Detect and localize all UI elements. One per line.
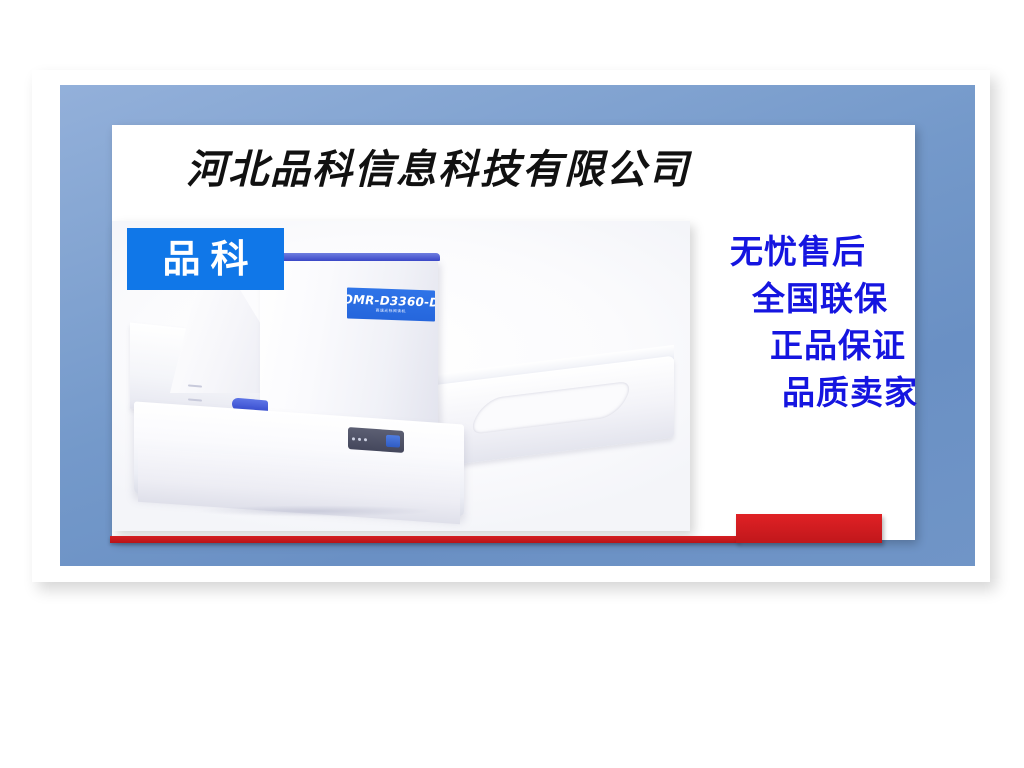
product-drop-shadow (150, 503, 480, 519)
output-tray-cutout (466, 380, 636, 435)
banner-stage: 河北品科信息科技有限公司 OMR-D3360-D 高速光标阅读机 (0, 0, 1024, 768)
slogan-item: 品质卖家 (690, 369, 918, 416)
red-accent-line (110, 536, 740, 543)
slogan-item: 正品保证 (690, 322, 918, 369)
power-button-icon (386, 435, 400, 448)
status-led-icon (364, 438, 367, 441)
slogan-item: 全国联保 (690, 275, 918, 322)
brand-badge: 品科 (127, 228, 284, 290)
status-led-icon (358, 437, 361, 440)
red-accent-block (736, 514, 882, 543)
scanner-tower (260, 259, 438, 431)
status-led-icon (352, 437, 355, 440)
status-led-group (352, 437, 367, 441)
model-plate: OMR-D3360-D 高速光标阅读机 (347, 287, 435, 321)
slogan-item: 无忧售后 (690, 228, 918, 275)
scanner-tower-top-accent (258, 253, 440, 261)
model-sublabel-text: 高速光标阅读机 (376, 308, 406, 315)
control-panel (348, 427, 404, 453)
slogan-list: 无忧售后 全国联保 正品保证 品质卖家 (690, 228, 918, 416)
brand-badge-label: 品科 (152, 239, 258, 279)
page-title: 河北品科信息科技有限公司 (118, 146, 758, 194)
